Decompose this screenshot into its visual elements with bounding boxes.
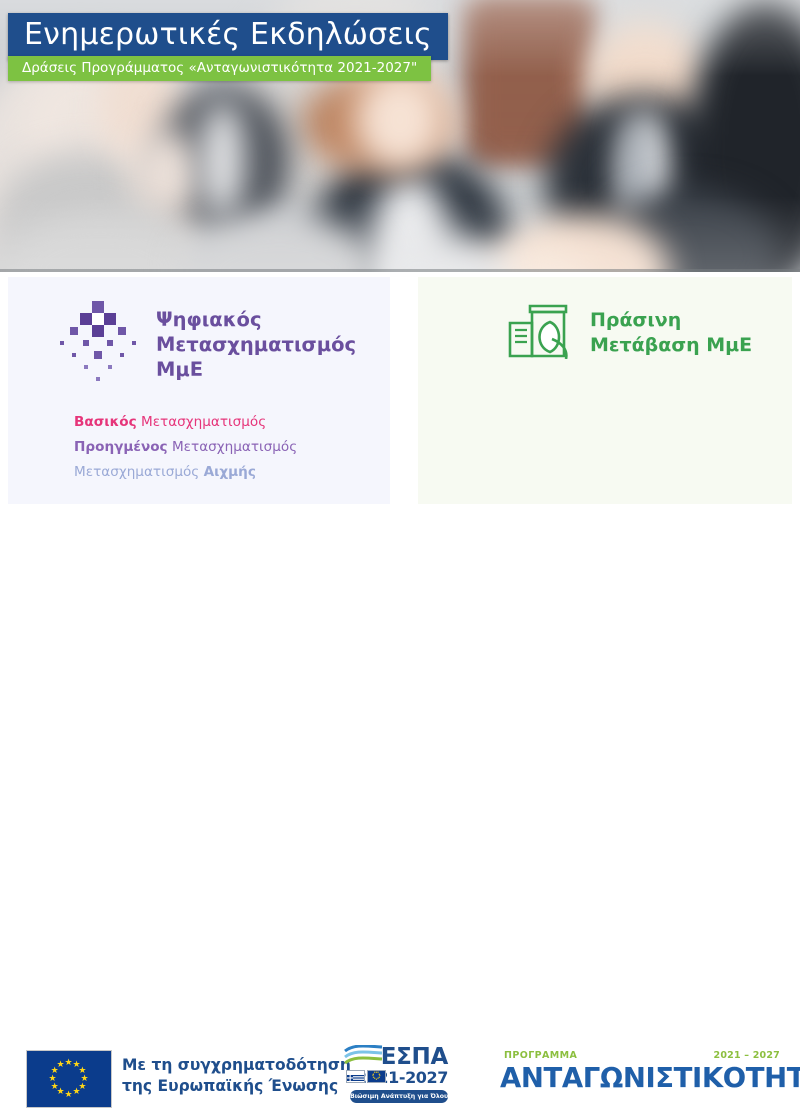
digital-action-1-rest: Μετασχηματισμός — [137, 414, 267, 430]
pixel-mosaic-icon — [56, 301, 142, 387]
digital-actions-list: Βασικός Μετασχηματισμός Προηγμένος Μετασ… — [74, 410, 297, 485]
program-name: ΑΝΤΑΓΩΝΙΣΤΙΚΟΤΗΤΑ — [500, 1062, 782, 1094]
program-top-row: ΠΡΟΓΡΑΜΜΑ 2021 – 2027 — [500, 1049, 782, 1062]
hero-banner: Ενημερωτικές Εκδηλώσεις Δράσεις Προγράμμ… — [0, 0, 800, 272]
digital-action-1: Βασικός Μετασχηματισμός — [74, 410, 297, 435]
espa-wave-icon — [344, 1045, 384, 1069]
digital-action-3-rest: Μετασχηματισμός — [74, 464, 204, 480]
digital-name-line2: Μετασχηματισμός — [156, 333, 356, 356]
digital-action-3-tail: Αιχμής — [204, 464, 256, 480]
eu-flag-mini-icon: ★★★★★★★★★★★★ — [367, 1070, 386, 1083]
green-name-line1: Πράσινη — [590, 309, 681, 331]
hero-subtitle: Δράσεις Προγράμματος «Ανταγωνιστικότητα … — [22, 59, 417, 77]
panel-digital-transformation: Ψηφιακός Μετασχηματισμός ΜμΕ Βασικός Μετ… — [8, 277, 390, 504]
hero-title-band: Ενημερωτικές Εκδηλώσεις — [8, 13, 448, 60]
program-label: ΠΡΟΓΡΑΜΜΑ — [504, 1049, 577, 1062]
panel-green-transition: Πράσινη Μετάβαση ΜμΕ Πράσινος Μετασχηματ… — [418, 277, 792, 504]
espa-tagline: Βιώσιμη Ανάπτυξη για Όλους — [350, 1090, 448, 1103]
digital-action-3: Μετασχηματισμός Αιχμής — [74, 460, 297, 485]
program-logo: ΠΡΟΓΡΑΜΜΑ 2021 – 2027 ΑΝΤΑΓΩΝΙΣΤΙΚΟΤΗΤΑ — [500, 1049, 782, 1094]
digital-action-1-strong: Βασικός — [74, 414, 137, 430]
hero-subtitle-band: Δράσεις Προγράμματος «Ανταγωνιστικότητα … — [8, 56, 431, 81]
digital-name-line1: Ψηφιακός — [156, 308, 262, 331]
green-logo-row: Πράσινη Μετάβαση ΜμΕ — [506, 303, 752, 363]
poster-page: Ενημερωτικές Εκδηλώσεις Δράσεις Προγράμμ… — [0, 0, 800, 636]
digital-logo-row: Ψηφιακός Μετασχηματισμός ΜμΕ — [56, 301, 356, 387]
digital-action-2-rest: Μετασχηματισμός — [168, 439, 298, 455]
program-years: 2021 – 2027 — [714, 1049, 780, 1062]
greek-flag-icon — [346, 1070, 365, 1083]
eu-flag-icon: ★★★★★★★★★★★★ — [26, 1050, 112, 1108]
espa-logo: ΕΣΠΑ 2021-2027 ★★★★★★★★★★★★ Βιώσιμη Ανάπ… — [344, 1045, 448, 1107]
factory-leaf-icon — [506, 303, 580, 363]
espa-word: ΕΣΠΑ — [381, 1045, 448, 1069]
footer-logos: ★★★★★★★★★★★★ Με τη συγχρηματοδότηση της … — [0, 504, 800, 636]
action-panels: Ψηφιακός Μετασχηματισμός ΜμΕ Βασικός Μετ… — [0, 277, 800, 504]
green-name-line2: Μετάβαση ΜμΕ — [590, 334, 752, 356]
digital-logo-text: Ψηφιακός Μετασχηματισμός ΜμΕ — [156, 307, 356, 382]
digital-name-line3: ΜμΕ — [156, 358, 203, 381]
digital-action-2: Προηγμένος Μετασχηματισμός — [74, 435, 297, 460]
hero-title: Ενημερωτικές Εκδηλώσεις — [24, 17, 432, 53]
eu-cofunding-text: Με τη συγχρηματοδότηση της Ευρωπαϊκής Έν… — [122, 1055, 351, 1097]
eu-text-line2: της Ευρωπαϊκής Ένωσης — [122, 1077, 338, 1095]
eu-text-line1: Με τη συγχρηματοδότηση — [122, 1056, 351, 1074]
green-logo-text: Πράσινη Μετάβαση ΜμΕ — [590, 308, 752, 358]
digital-action-2-strong: Προηγμένος — [74, 439, 168, 455]
